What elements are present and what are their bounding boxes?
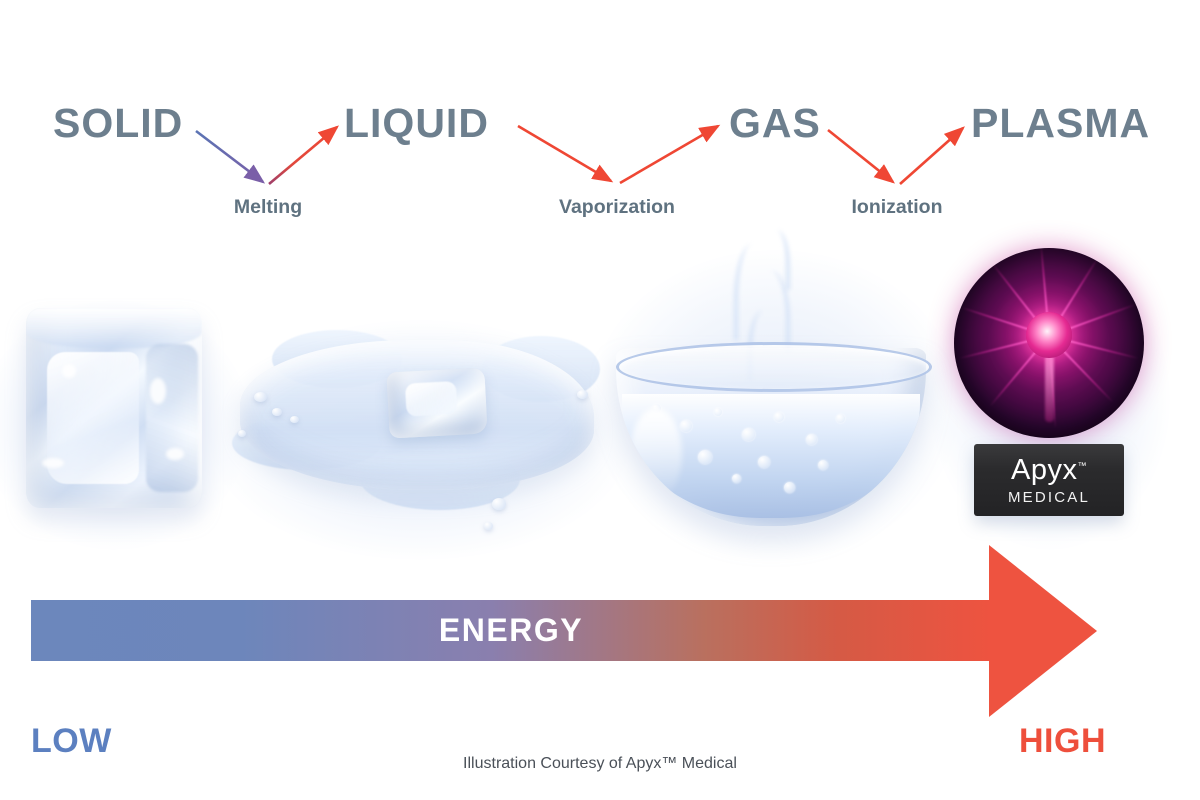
illustration-credit: Illustration Courtesy of Apyx™ Medical <box>0 756 1200 772</box>
transition-label-ionization: Ionization <box>852 198 943 218</box>
state-label-plasma: PLASMA <box>971 103 1150 144</box>
water-droplet <box>290 416 299 423</box>
steaming-bowl-image <box>616 330 926 530</box>
infographic-canvas: SOLID LIQUID GAS PLASMA Melting Vaporiza… <box>0 0 1200 800</box>
ice-cube-top-face <box>26 308 202 348</box>
energy-high-label: HIGH <box>1019 724 1106 758</box>
melting-ice-cube <box>386 367 487 438</box>
bubble <box>714 408 722 416</box>
plasma-ball-image: Apyx™ MEDICAL <box>954 248 1144 533</box>
water-droplet <box>492 498 506 510</box>
bubble <box>818 460 828 470</box>
trademark-symbol: ™ <box>1077 460 1087 470</box>
bubble <box>758 456 770 468</box>
transition-label-vaporization: Vaporization <box>559 198 675 218</box>
apyx-subtitle-text: MEDICAL <box>974 490 1124 505</box>
ice-frost-speck <box>166 448 184 460</box>
arrow-ionization-to-plasma <box>900 128 963 184</box>
ice-frost-speck <box>62 364 76 378</box>
water-droplet <box>577 390 588 399</box>
water-droplet <box>254 392 267 402</box>
arrow-melting-to-liquid <box>269 127 337 184</box>
bubble <box>806 434 817 445</box>
energy-arrow-head <box>989 545 1097 717</box>
bubble <box>698 450 712 464</box>
arrow-liquid-to-vaporization <box>518 126 611 181</box>
energy-low-label: LOW <box>31 724 112 758</box>
water-droplet <box>484 522 493 530</box>
state-label-gas: GAS <box>729 103 821 144</box>
apyx-brand-label: Apyx <box>1011 454 1077 486</box>
bubble <box>784 482 795 493</box>
bubble <box>732 474 741 483</box>
bowl-highlight <box>630 408 682 500</box>
energy-bar-label: ENERGY <box>31 600 991 661</box>
water-droplet <box>238 430 246 437</box>
transition-label-melting: Melting <box>234 198 302 218</box>
bubble <box>680 420 692 432</box>
bubble <box>742 428 755 441</box>
plasma-globe <box>954 248 1144 438</box>
bowl-rim <box>616 342 932 392</box>
arrow-vaporization-to-gas <box>620 126 718 183</box>
arrow-solid-to-melting <box>196 131 263 182</box>
ice-cube-image <box>26 308 202 508</box>
ice-frost-speck <box>150 378 166 404</box>
ice-cube-body <box>26 308 202 508</box>
arrow-gas-to-ionization <box>828 130 893 182</box>
ice-cube-side-face <box>146 344 199 492</box>
state-label-liquid: LIQUID <box>344 103 489 144</box>
water-puddle-image <box>232 330 602 540</box>
plasma-ball-base: Apyx™ MEDICAL <box>974 444 1124 516</box>
apyx-brand-text: Apyx™ <box>974 456 1124 485</box>
bubble <box>836 414 845 423</box>
water-droplet <box>272 408 282 416</box>
plasma-electrode-neck <box>1045 354 1054 422</box>
ice-frost-speck <box>42 458 64 468</box>
state-label-solid: SOLID <box>53 103 183 144</box>
bubble <box>774 412 784 422</box>
